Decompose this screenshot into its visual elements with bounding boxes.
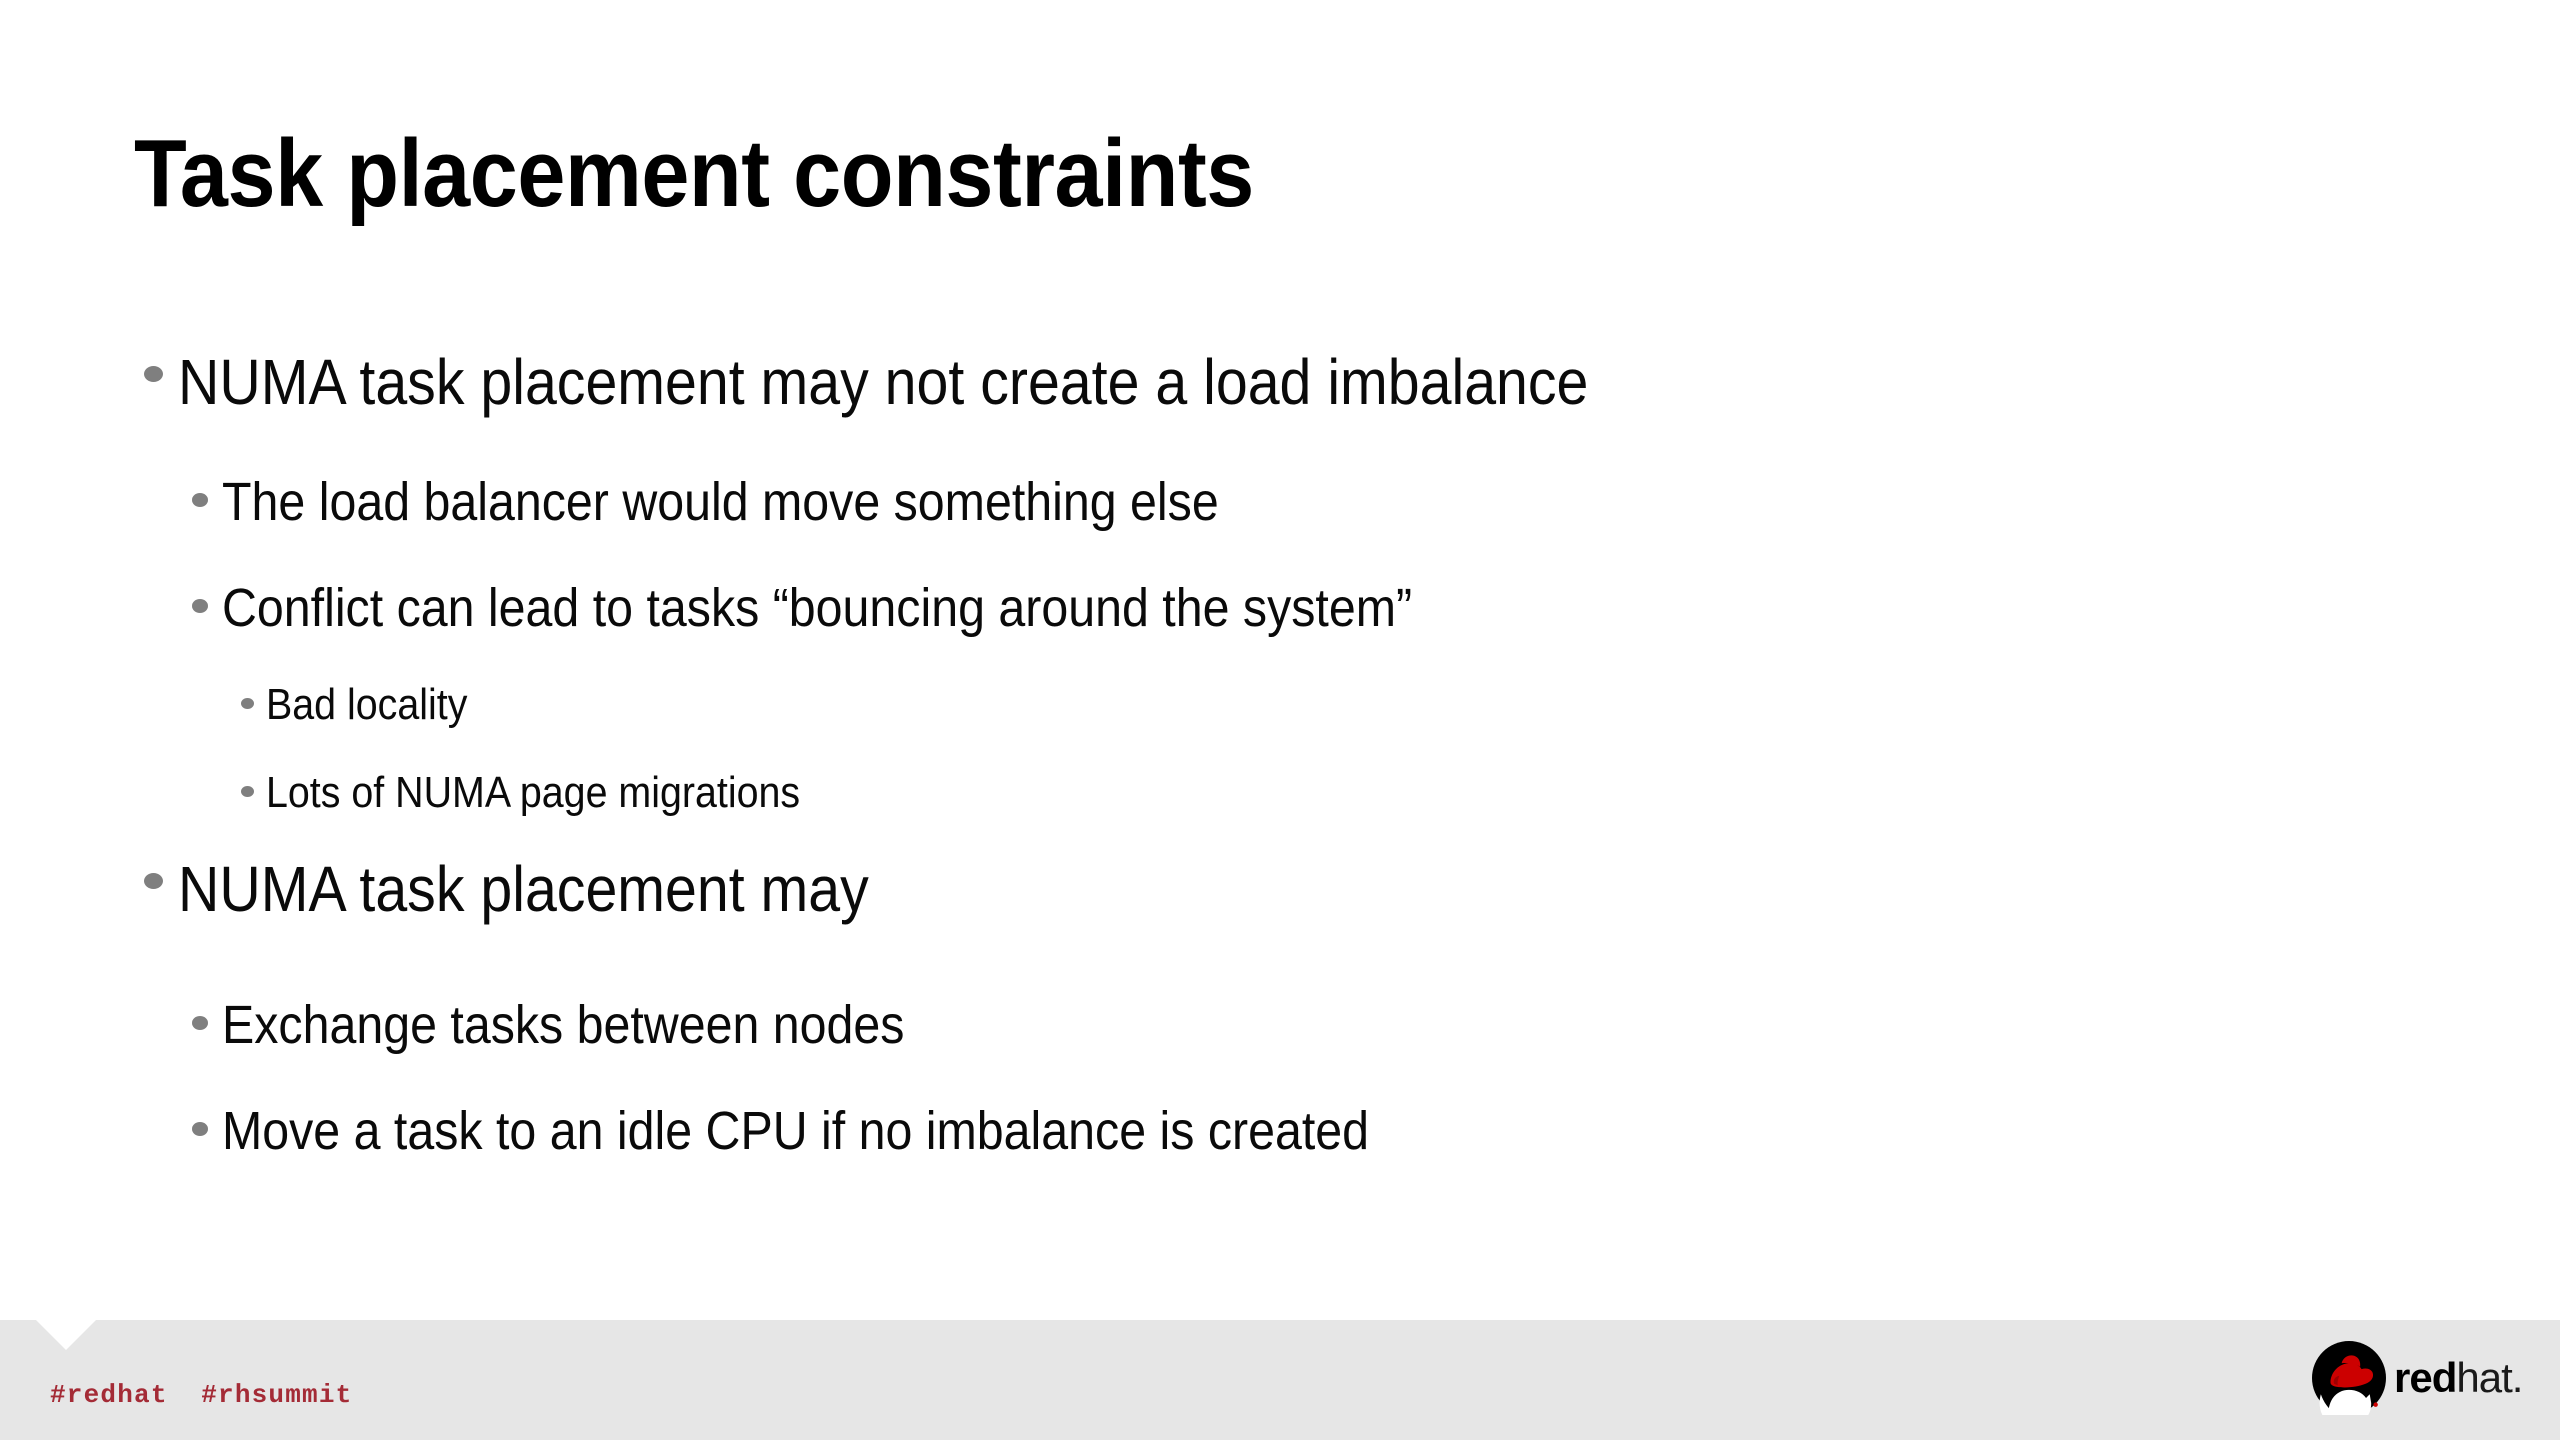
- wordmark-red: red: [2394, 1354, 2456, 1401]
- bullet-dot-icon: [192, 599, 208, 613]
- bullet-text: The load balancer would move something e…: [222, 449, 1219, 555]
- page-title: Task placement constraints: [134, 122, 2114, 226]
- redhat-wordmark: redhat.: [2394, 1353, 2522, 1403]
- wordmark-hat: hat.: [2456, 1354, 2522, 1401]
- bullet-item-level2: Exchange tasks between nodes: [0, 972, 2560, 1078]
- bullet-text: NUMA task placement may: [178, 837, 869, 942]
- bullet-dot-icon: [192, 1016, 208, 1030]
- bullet-list: NUMA task placement may not create a loa…: [0, 330, 2560, 1184]
- redhat-logo: redhat.: [2312, 1341, 2544, 1415]
- bullet-item-level2: The load balancer would move something e…: [0, 449, 2560, 555]
- bullet-text: Move a task to an idle CPU if no imbalan…: [222, 1078, 1369, 1184]
- bullet-dot-icon: [144, 873, 163, 889]
- spacer: [0, 435, 2560, 449]
- bullet-dot-icon: [241, 786, 254, 797]
- bullet-item-level1: NUMA task placement may: [0, 837, 2560, 942]
- bullet-item-level1: NUMA task placement may not create a loa…: [0, 330, 2560, 435]
- bullet-text: Exchange tasks between nodes: [222, 972, 904, 1078]
- bullet-item-level2: Conflict can lead to tasks “bouncing aro…: [0, 555, 2560, 661]
- bullet-dot-icon: [192, 493, 208, 507]
- bullet-item-level3: Lots of NUMA page migrations: [0, 749, 2560, 837]
- bullet-text: Bad locality: [266, 661, 467, 749]
- slide-canvas: Task placement constraints NUMA task pla…: [0, 0, 2560, 1440]
- bullet-text: Lots of NUMA page migrations: [266, 749, 800, 837]
- bullet-dot-icon: [192, 1122, 208, 1136]
- slide-footer: [0, 1320, 2560, 1440]
- spacer: [0, 942, 2560, 972]
- footer-hashtags: #redhat #rhsummit: [50, 1380, 352, 1410]
- bullet-item-level2: Move a task to an idle CPU if no imbalan…: [0, 1078, 2560, 1184]
- shadowman-icon: [2312, 1341, 2386, 1415]
- footer-notch-triangle-icon: [36, 1320, 96, 1350]
- bullet-dot-icon: [241, 698, 254, 709]
- bullet-dot-icon: [144, 366, 163, 382]
- bullet-text: NUMA task placement may not create a loa…: [178, 330, 1588, 435]
- bullet-item-level3: Bad locality: [0, 661, 2560, 749]
- bullet-text: Conflict can lead to tasks “bouncing aro…: [222, 555, 1412, 661]
